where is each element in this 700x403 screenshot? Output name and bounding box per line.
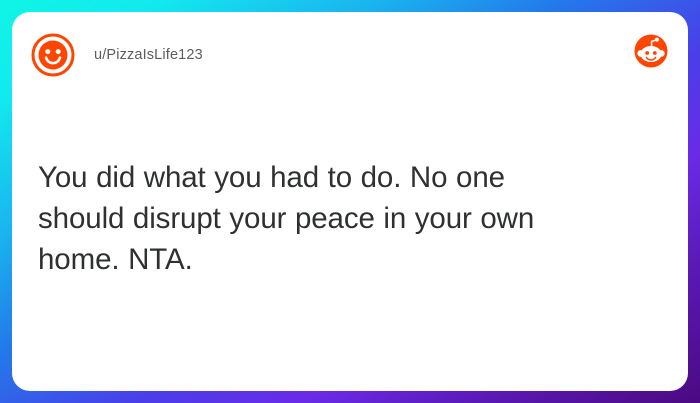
comment-line: You did what you had to do. No one xyxy=(38,157,666,198)
comment-line: should disrupt your peace in your own xyxy=(38,198,666,239)
screenshot-root: u/PizzaIsLife123 xyxy=(0,0,700,403)
comment-body: You did what you had to do. No one shoul… xyxy=(38,157,666,280)
comment-header: u/PizzaIsLife123 xyxy=(12,12,688,90)
avatar[interactable] xyxy=(31,33,75,77)
reddit-comment-card: u/PizzaIsLife123 xyxy=(12,12,688,391)
username-label[interactable]: u/PizzaIsLife123 xyxy=(94,46,203,64)
reddit-snoo-icon xyxy=(634,34,668,68)
comment-line: home. NTA. xyxy=(38,239,666,280)
